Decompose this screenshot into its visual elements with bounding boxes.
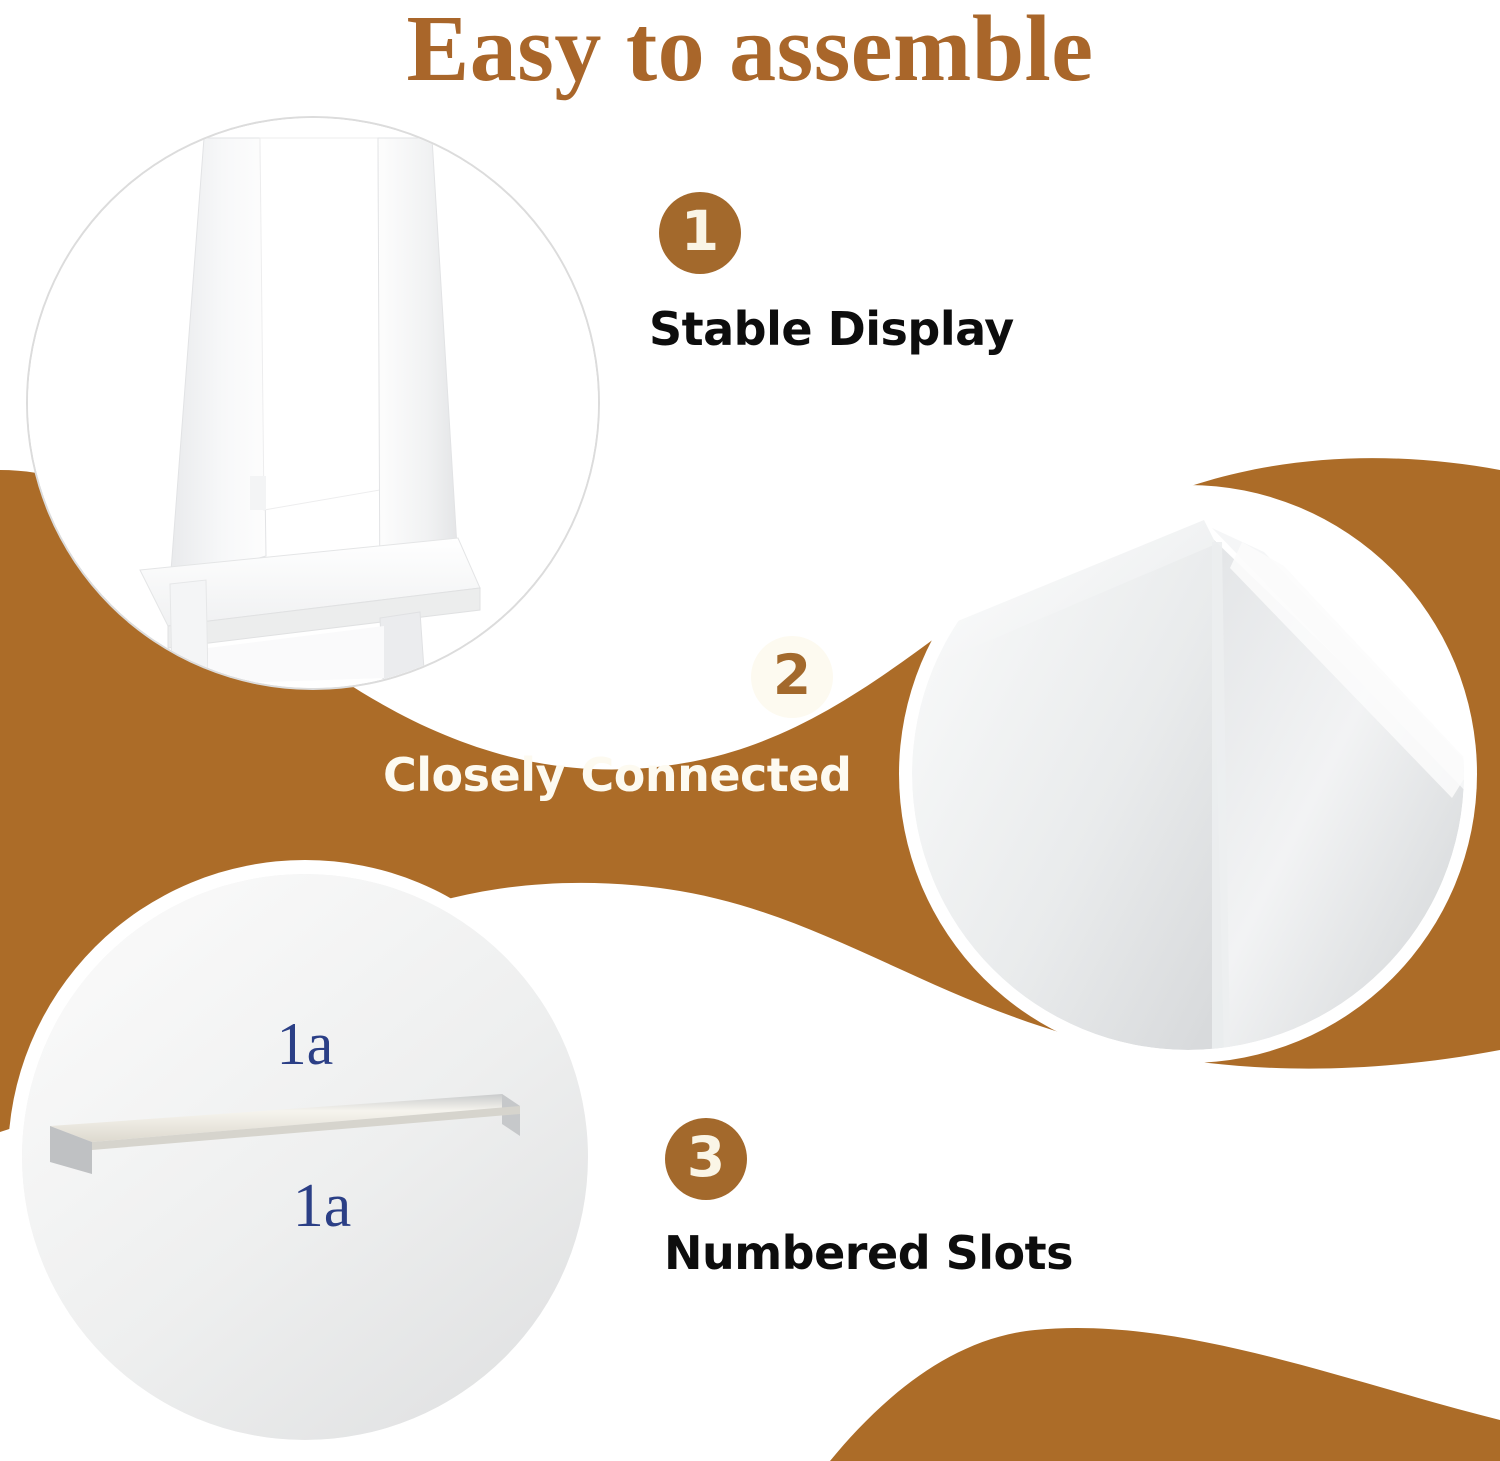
step-label-2: Closely Connected: [383, 752, 851, 798]
infographic-canvas: Easy to assemble: [0, 0, 1500, 1461]
step-label-1: Stable Display: [649, 306, 1014, 352]
corner-joint-illustration: [912, 498, 1464, 1050]
page-title: Easy to assemble: [0, 2, 1500, 96]
numbered-slot-illustration: 1a 1a: [22, 874, 588, 1440]
slot-label-bottom: 1a: [293, 1172, 352, 1240]
closely-connected-photo: [912, 498, 1464, 1050]
numbered-slots-photo-inner: 1a 1a: [22, 874, 588, 1440]
step-badge-1: 1: [659, 192, 741, 274]
slot-label-top: 1a: [277, 1011, 334, 1077]
stable-display-photo-inner: [28, 118, 598, 688]
stable-display-photo: [28, 118, 598, 688]
corner-blob-shape: [830, 1328, 1500, 1461]
numbered-slots-photo: 1a 1a: [22, 874, 588, 1440]
step-badge-2: 2: [751, 636, 833, 718]
stable-display-illustration: [28, 118, 598, 688]
step-label-3: Numbered Slots: [664, 1230, 1073, 1276]
step-badge-3: 3: [665, 1118, 747, 1200]
closely-connected-photo-inner: [912, 498, 1464, 1050]
